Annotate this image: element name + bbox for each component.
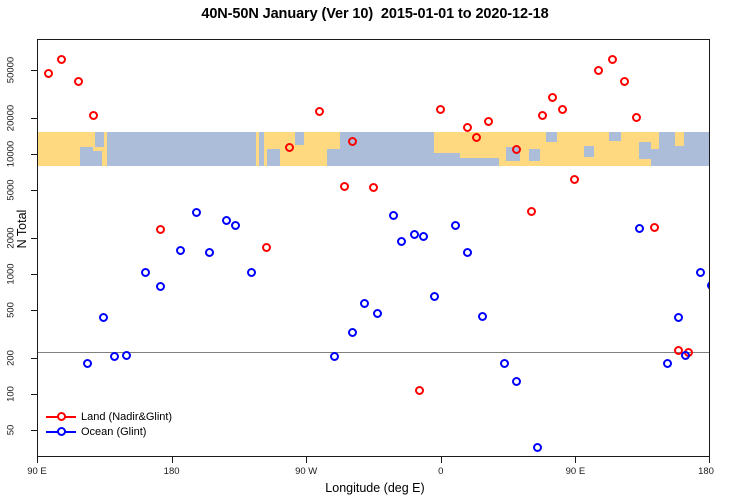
x-tick-label: 180 — [698, 466, 714, 477]
data-point-land — [340, 182, 349, 191]
data-point-ocean — [397, 237, 406, 246]
data-point-ocean — [231, 221, 240, 230]
legend-item-land[interactable]: Land (Nadir&Glint) — [46, 409, 172, 424]
data-point-ocean — [360, 299, 369, 308]
data-point-land — [632, 113, 641, 122]
x-tick-mark — [306, 457, 307, 463]
data-point-ocean — [478, 312, 487, 321]
x-tick-mark — [709, 457, 710, 463]
data-point-ocean — [663, 359, 672, 368]
data-point-ocean — [247, 268, 256, 277]
data-point-ocean — [192, 208, 201, 217]
data-point-land — [570, 175, 579, 184]
data-point-ocean — [500, 359, 509, 368]
threshold-line — [38, 352, 709, 353]
data-point-ocean — [156, 282, 165, 291]
data-point-land — [89, 111, 98, 120]
map-land-region — [327, 132, 340, 149]
y-tick-label: 1000 — [6, 263, 17, 284]
data-point-ocean — [463, 248, 472, 257]
data-point-ocean — [635, 224, 644, 233]
data-point-land — [650, 223, 659, 232]
y-tick-label: 5000 — [6, 179, 17, 200]
data-point-ocean — [533, 443, 542, 452]
legend-item-ocean[interactable]: Ocean (Glint) — [46, 424, 172, 439]
data-point-land — [484, 117, 493, 126]
map-ocean-region — [546, 132, 556, 142]
legend-label-land: Land (Nadir&Glint) — [81, 411, 172, 423]
data-point-ocean — [410, 230, 419, 239]
x-tick-mark — [441, 457, 442, 463]
data-point-ocean — [110, 352, 119, 361]
data-point-land — [348, 137, 357, 146]
legend-label-ocean: Ocean (Glint) — [81, 426, 146, 438]
legend: Land (Nadir&Glint) Ocean (Glint) — [42, 406, 176, 442]
map-ocean-region — [95, 132, 104, 148]
y-tick-label: 500 — [6, 302, 17, 318]
data-point-ocean — [205, 248, 214, 257]
data-point-land — [44, 69, 53, 78]
data-point-land — [156, 225, 165, 234]
map-ocean-region — [639, 142, 651, 159]
x-tick-label: 180 — [164, 466, 180, 477]
data-point-land — [608, 55, 617, 64]
data-point-ocean — [83, 359, 92, 368]
data-point-ocean — [707, 281, 711, 290]
data-point-ocean — [389, 211, 398, 220]
map-land-region — [256, 132, 259, 167]
map-ocean-region — [529, 149, 541, 161]
plot-area — [37, 39, 710, 457]
map-land-region — [499, 132, 652, 167]
x-tick-label: 90 W — [295, 466, 317, 477]
land-marker-icon — [46, 411, 76, 423]
y-tick-label: 100 — [6, 386, 17, 402]
chart-title: 40N-50N January (Ver 10) 2015-01-01 to 2… — [0, 6, 750, 22]
map-ocean-region — [267, 149, 280, 166]
x-tick-label: 90 E — [27, 466, 47, 477]
data-point-land — [527, 207, 536, 216]
x-axis-title: Longitude (deg E) — [0, 481, 750, 495]
data-point-land — [74, 77, 83, 86]
y-tick-label: 10000 — [6, 140, 17, 166]
map-ocean-region — [80, 147, 93, 166]
data-point-land — [548, 93, 557, 102]
x-tick-label: 90 E — [566, 466, 586, 477]
map-land-region — [675, 132, 684, 146]
data-point-ocean — [99, 313, 108, 322]
data-point-land — [436, 105, 445, 114]
data-point-ocean — [222, 216, 231, 225]
map-land-region — [434, 132, 459, 153]
data-point-land — [620, 77, 629, 86]
figure-canvas: 40N-50N January (Ver 10) 2015-01-01 to 2… — [0, 0, 750, 500]
data-point-ocean — [696, 268, 705, 277]
map-ocean-region — [609, 132, 621, 142]
y-tick-label: 50000 — [6, 56, 17, 82]
data-point-ocean — [122, 351, 131, 360]
ocean-marker-icon — [46, 426, 76, 438]
data-point-ocean — [681, 351, 690, 360]
data-point-ocean — [348, 328, 357, 337]
x-tick-mark — [37, 457, 38, 463]
data-point-ocean — [176, 246, 185, 255]
x-tick-label: 0 — [438, 466, 443, 477]
data-point-land — [285, 143, 294, 152]
x-tick-mark — [575, 457, 576, 463]
y-tick-label: 2000 — [6, 227, 17, 248]
data-point-land — [558, 105, 567, 114]
data-point-land — [594, 66, 603, 75]
data-point-land — [57, 55, 66, 64]
data-point-ocean — [330, 352, 339, 361]
y-tick-label: 20000 — [6, 104, 17, 130]
data-point-ocean — [512, 377, 521, 386]
y-tick-label: 50 — [6, 425, 17, 436]
data-point-land — [369, 183, 378, 192]
data-point-land — [262, 243, 271, 252]
data-point-land — [463, 123, 472, 132]
map-ocean-region — [584, 146, 594, 156]
map-ocean-region — [659, 132, 669, 153]
data-point-ocean — [419, 232, 428, 241]
data-point-ocean — [430, 292, 439, 301]
data-point-ocean — [451, 221, 460, 230]
data-point-ocean — [674, 313, 683, 322]
data-point-land — [315, 107, 324, 116]
map-ocean-region — [295, 132, 304, 145]
data-point-ocean — [373, 309, 382, 318]
data-point-ocean — [141, 268, 150, 277]
y-axis-title: N Total — [15, 179, 29, 279]
y-tick-label: 200 — [6, 350, 17, 366]
data-point-land — [538, 111, 547, 120]
data-point-land — [415, 386, 424, 395]
data-point-land — [472, 133, 481, 142]
x-tick-mark — [172, 457, 173, 463]
